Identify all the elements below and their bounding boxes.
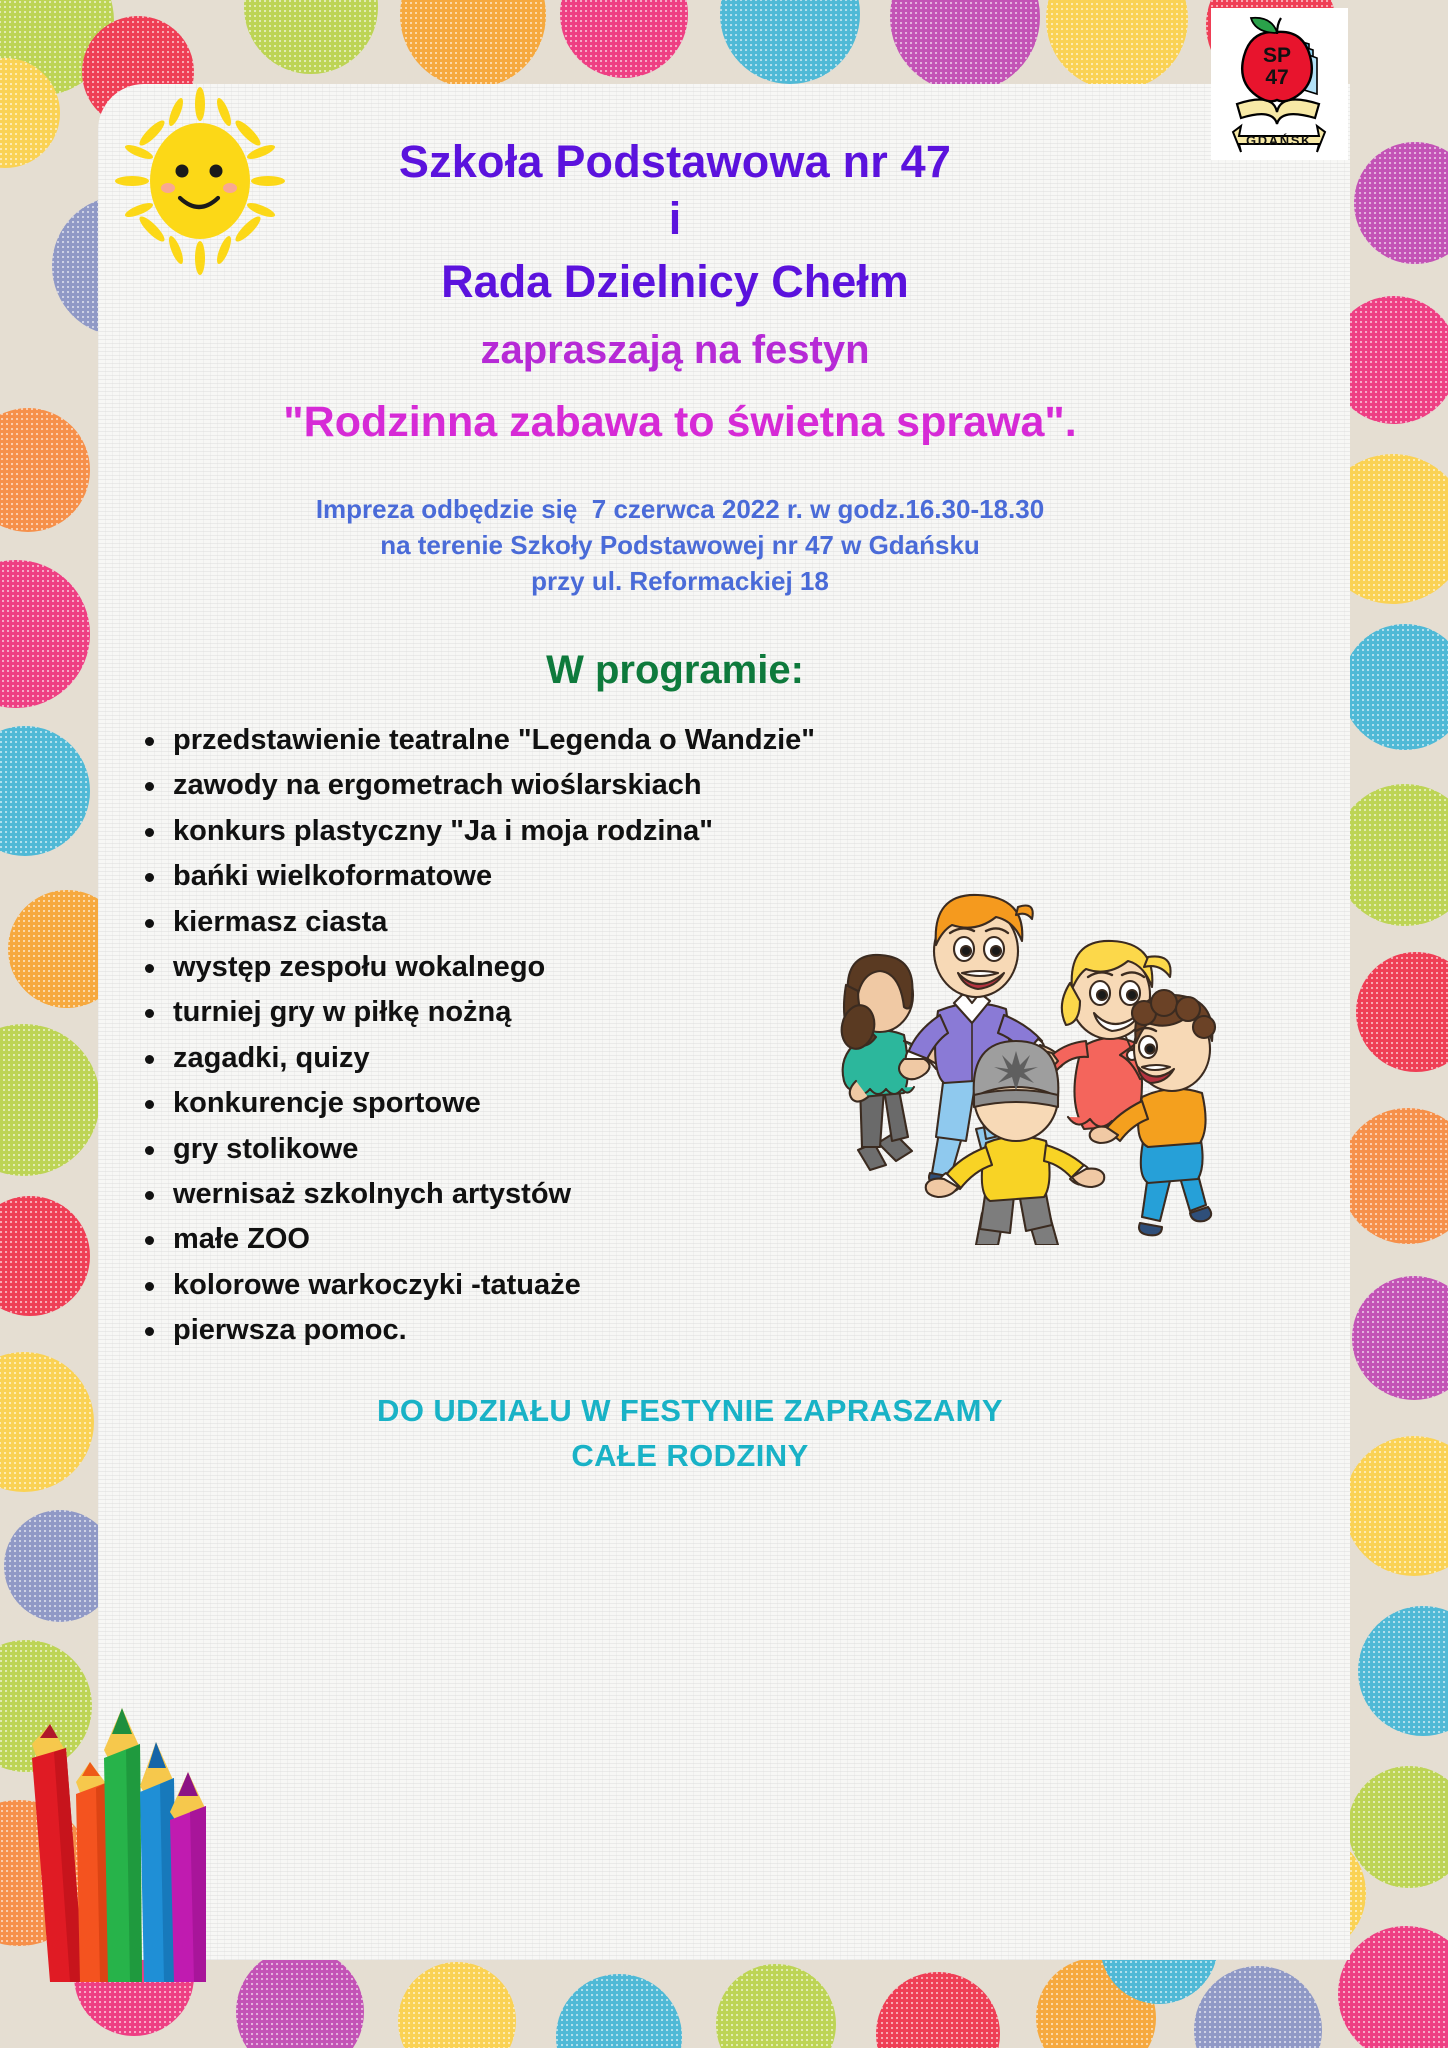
background-dot: [244, 0, 378, 74]
page-title-school: Szkoła Podstawowa nr 47: [170, 136, 1180, 188]
background-dot: [716, 1964, 836, 2048]
sp47-gdansk-school-logo: SP 47 GDAŃSK: [1211, 8, 1348, 160]
event-details: Impreza odbędzie się 7 czerwca 2022 r. w…: [120, 491, 1240, 599]
background-dot: [1046, 0, 1188, 90]
background-dot: [0, 1352, 94, 1492]
background-dot: [1356, 952, 1448, 1072]
logo-apple-47-text: 47: [1265, 66, 1288, 89]
background-dot: [0, 560, 90, 708]
event-details-venue: na terenie Szkoły Podstawowej nr 47 w Gd…: [120, 527, 1240, 563]
footer-line-2: CAŁE RODZINY: [160, 1433, 1220, 1478]
colored-pencils-illustration: [10, 1690, 240, 2010]
background-dot: [0, 726, 90, 856]
event-details-address: przy ul. Reformackiej 18: [120, 563, 1240, 599]
background-dot: [1334, 784, 1448, 926]
background-dot: [0, 1196, 90, 1316]
children-holding-hands-circle-illustration: [800, 845, 1220, 1245]
program-list-item: pierwsza pomoc.: [125, 1308, 1025, 1353]
footer-line-1: DO UDZIAŁU W FESTYNIE ZAPRASZAMY: [160, 1388, 1220, 1433]
background-dot: [1358, 1606, 1448, 1736]
background-dot: [1348, 1766, 1448, 1888]
program-list-item: kolorowe warkoczyki -tatuaże: [125, 1263, 1025, 1308]
logo-banner-text: GDAŃSK: [1246, 133, 1312, 148]
page-subtitle-invitation: zapraszają na festyn: [170, 328, 1180, 373]
background-dot: [1194, 1966, 1322, 2048]
background-dot: [556, 1974, 682, 2048]
background-dot: [1340, 1108, 1448, 1244]
program-heading: W programie:: [170, 648, 1180, 693]
background-dot: [1342, 624, 1448, 750]
page-subtitle-event-name: "Rodzinna zabawa to świetna sprawa".: [100, 398, 1260, 447]
event-details-datetime: Impreza odbędzie się 7 czerwca 2022 r. w…: [120, 491, 1240, 527]
background-dot: [236, 1948, 364, 2048]
background-dot: [1354, 142, 1448, 264]
background-dot: [720, 0, 860, 84]
page-title-conjunction: i: [170, 193, 1180, 245]
background-dot: [560, 0, 688, 78]
program-list-item: zawody na ergometrach wioślarskiach: [125, 763, 1025, 808]
background-dot: [0, 1024, 100, 1176]
background-dot: [876, 1972, 1000, 2048]
background-dot: [1352, 1276, 1448, 1400]
background-dot: [1338, 1926, 1448, 2048]
program-list-item: przedstawienie teatralne "Legenda o Wand…: [125, 718, 1025, 763]
logo-apple-sp-text: SP: [1263, 44, 1291, 67]
background-dot: [890, 0, 1040, 92]
background-dot: [1344, 1436, 1448, 1576]
background-dot: [400, 0, 546, 88]
footer-invitation: DO UDZIAŁU W FESTYNIE ZAPRASZAMY CAŁE RO…: [160, 1388, 1220, 1478]
page-title-district-council: Rada Dzielnicy Chełm: [170, 256, 1180, 308]
background-dot: [398, 1962, 516, 2048]
poster-root: SP 47 GDAŃSK: [0, 0, 1448, 2048]
background-dot: [0, 408, 90, 532]
